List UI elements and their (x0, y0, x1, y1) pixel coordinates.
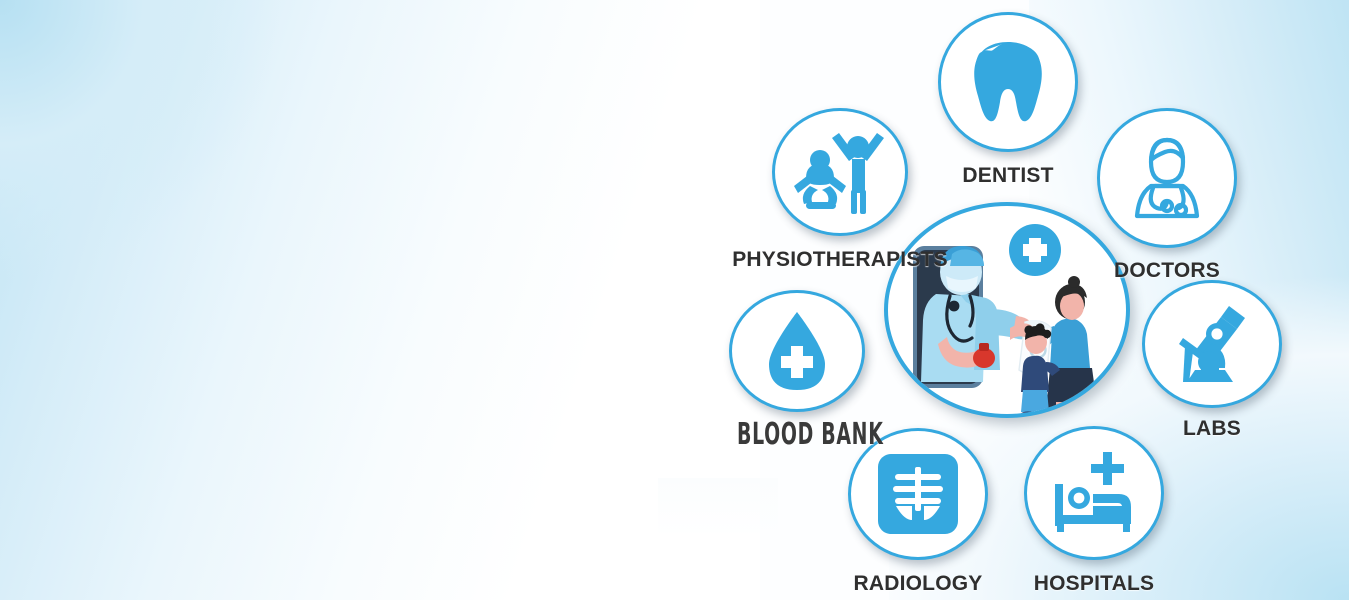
node-dentist[interactable]: DENTIST (938, 12, 1078, 152)
center-hub[interactable] (884, 202, 1130, 418)
plus-badge-icon (1006, 221, 1064, 279)
physiotherapists-label: PHYSIOTHERAPISTS (670, 248, 1010, 272)
microscope-icon (1171, 304, 1253, 384)
hospital-bed-icon (1049, 450, 1139, 536)
blood-bank-label: BLOOD BANK (737, 417, 884, 452)
xray-icon (878, 454, 958, 534)
node-physiotherapists[interactable]: PHYSIOTHERAPISTS (772, 108, 908, 236)
doctors-circle (1097, 108, 1237, 248)
node-doctors[interactable]: DOCTORS (1097, 108, 1237, 248)
blood-bank-circle (729, 290, 865, 412)
node-blood-bank[interactable]: BLOOD BANK (729, 290, 865, 412)
dentist-circle (938, 12, 1078, 152)
background-artifact (655, 368, 695, 480)
background-artifact-secondary (658, 478, 778, 538)
hospitals-label: HOSPITALS (1018, 572, 1170, 596)
dentist-label: DENTIST (934, 164, 1082, 188)
physiotherapists-circle (772, 108, 908, 236)
radiology-label: RADIOLOGY (842, 572, 994, 596)
node-hospitals[interactable]: HOSPITALS (1024, 426, 1164, 560)
doctor-icon (1121, 134, 1213, 222)
labs-circle (1142, 280, 1282, 408)
node-labs[interactable]: LABS (1142, 280, 1282, 408)
hospitals-circle (1024, 426, 1164, 560)
telemedicine-illustration (884, 202, 1130, 418)
background-glow-top-left (0, 0, 300, 300)
infographic-canvas: DENTIST (0, 0, 1349, 600)
physiotherapy-icon (792, 130, 888, 214)
blood-drop-icon (765, 310, 829, 392)
tooth-icon (969, 39, 1047, 125)
